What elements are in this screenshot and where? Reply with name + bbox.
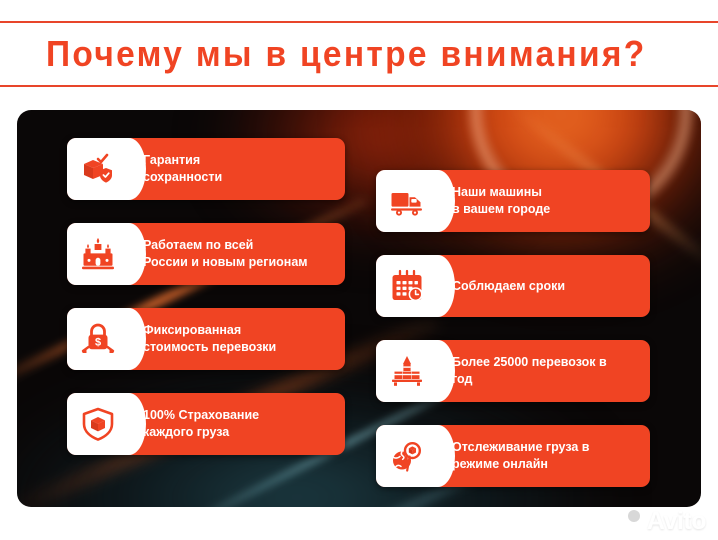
feature-card-tracking[interactable]: Отслеживание груза в режиме онлайн <box>376 425 650 487</box>
feature-line-1: Работаем по всей <box>143 238 253 252</box>
feature-line-2: стоимость перевозки <box>143 340 276 354</box>
page-title: Почему мы в центре внимания? <box>46 28 647 80</box>
icon-pod <box>376 425 438 487</box>
stacked-boxes-pallet-icon <box>390 354 424 388</box>
header-rule-top <box>0 21 718 23</box>
feature-card-fixed-price[interactable]: $ Фиксированная стоимость перевозки <box>67 308 345 370</box>
feature-line-1: Соблюдаем сроки <box>452 279 565 293</box>
box-check-shield-icon <box>81 152 115 186</box>
feature-line-2: год <box>452 372 472 386</box>
feature-line-2: режиме онлайн <box>452 457 548 471</box>
icon-pod <box>376 170 438 232</box>
feature-line-2: каждого груза <box>143 425 229 439</box>
feature-line-1: Наши машины <box>452 185 542 199</box>
avito-watermark-text: Avito <box>647 509 706 534</box>
feature-line-1: Фиксированная <box>143 323 241 337</box>
avito-watermark: Avito <box>616 509 706 534</box>
delivery-truck-icon <box>390 184 424 218</box>
feature-card-text: 100% Страхование каждого груза <box>129 393 345 455</box>
feature-card-volume[interactable]: Более 25000 перевозок в год <box>376 340 650 402</box>
calendar-clock-icon <box>390 269 424 303</box>
feature-line-1: Более 25000 перевозок в <box>452 355 607 369</box>
header-rule-bottom <box>0 85 718 87</box>
feature-card-text: Гарантия сохранности <box>129 138 345 200</box>
feature-card-guarantee[interactable]: Гарантия сохранности <box>67 138 345 200</box>
slide-root: Почему мы в центре внимания? <box>0 0 718 540</box>
svg-text:$: $ <box>95 336 101 348</box>
feature-card-text: Отслеживание груза в режиме онлайн <box>438 425 650 487</box>
feature-card-text: Соблюдаем сроки <box>438 255 650 317</box>
feature-line-2: России и новым регионам <box>143 255 308 269</box>
icon-pod <box>67 138 129 200</box>
feature-line-1: Отслеживание груза в <box>452 440 590 454</box>
feature-line-1: Гарантия <box>143 153 200 167</box>
feature-card-text: Работаем по всей России и новым регионам <box>129 223 345 285</box>
globe-magnifier-box-icon <box>390 439 424 473</box>
icon-pod <box>67 393 129 455</box>
feature-line-2: в вашем городе <box>452 202 550 216</box>
features-panel: Гарантия сохранности <box>17 110 701 507</box>
feature-card-insurance[interactable]: 100% Страхование каждого груза <box>67 393 345 455</box>
icon-pod: $ <box>67 308 129 370</box>
feature-card-deadlines[interactable]: Соблюдаем сроки <box>376 255 650 317</box>
feature-card-text: Наши машины в вашем городе <box>438 170 650 232</box>
feature-card-our-trucks[interactable]: Наши машины в вашем городе <box>376 170 650 232</box>
icon-pod <box>376 255 438 317</box>
feature-line-2: сохранности <box>143 170 222 184</box>
feature-card-text: Более 25000 перевозок в год <box>438 340 650 402</box>
avito-dots-icon <box>616 510 642 534</box>
icon-pod <box>376 340 438 402</box>
kremlin-cathedral-icon <box>81 237 115 271</box>
feature-card-text: Фиксированная стоимость перевозки <box>129 308 345 370</box>
padlock-dollar-icon: $ <box>81 322 115 356</box>
icon-pod <box>67 223 129 285</box>
shield-box-icon <box>81 407 115 441</box>
feature-card-coverage[interactable]: Работаем по всей России и новым регионам <box>67 223 345 285</box>
feature-line-1: 100% Страхование <box>143 408 259 422</box>
